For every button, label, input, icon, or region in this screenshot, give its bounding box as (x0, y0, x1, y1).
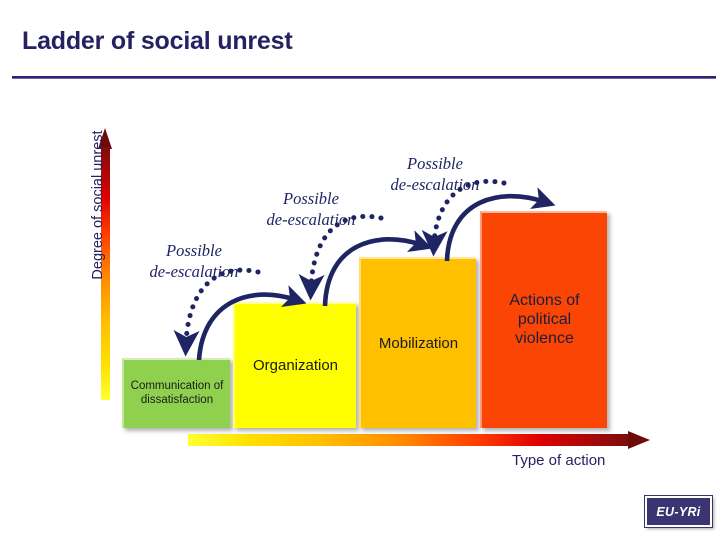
deescalation-caption-2-line1: Possible (245, 188, 377, 209)
logo-text: EU-YRi (656, 505, 700, 519)
deescalation-caption-2: Possible de-escalation (245, 188, 377, 230)
step-bar-mobilization[interactable]: Mobilization (359, 257, 476, 428)
step-bar-organization[interactable]: Organization (233, 302, 356, 428)
x-axis-arrow (188, 431, 650, 449)
x-axis-arrowhead-icon (628, 431, 650, 449)
deescalation-caption-1: Possible de-escalation (128, 240, 260, 282)
step-bar-political-violence[interactable]: Actions of political violence (480, 211, 607, 428)
deescalation-caption-1-line2: de-escalation (128, 261, 260, 282)
step-label-mobilization: Mobilization (374, 335, 463, 353)
x-axis-label: Type of action (512, 452, 605, 469)
title-divider (12, 76, 716, 79)
page-title: Ladder of social unrest (22, 27, 292, 56)
x-axis-gradient-shaft (188, 434, 628, 446)
step-bar-communication[interactable]: Communication of dissatisfaction (122, 358, 230, 428)
deescalation-caption-3-line1: Possible (369, 153, 501, 174)
eu-yri-logo: EU-YRi (645, 496, 712, 527)
slide-canvas: Ladder of social unrest Degree of social… (0, 0, 728, 546)
step-label-political-violence: Actions of political violence (482, 292, 607, 349)
deescalation-caption-3: Possible de-escalation (369, 153, 501, 195)
deescalation-caption-1-line1: Possible (128, 240, 260, 261)
step-label-communication: Communication of dissatisfaction (124, 380, 230, 407)
y-axis-label: Degree of social unrest (90, 90, 106, 320)
step-label-organization: Organization (248, 357, 343, 375)
deescalation-caption-3-line2: de-escalation (369, 174, 501, 195)
deescalation-caption-2-line2: de-escalation (245, 209, 377, 230)
